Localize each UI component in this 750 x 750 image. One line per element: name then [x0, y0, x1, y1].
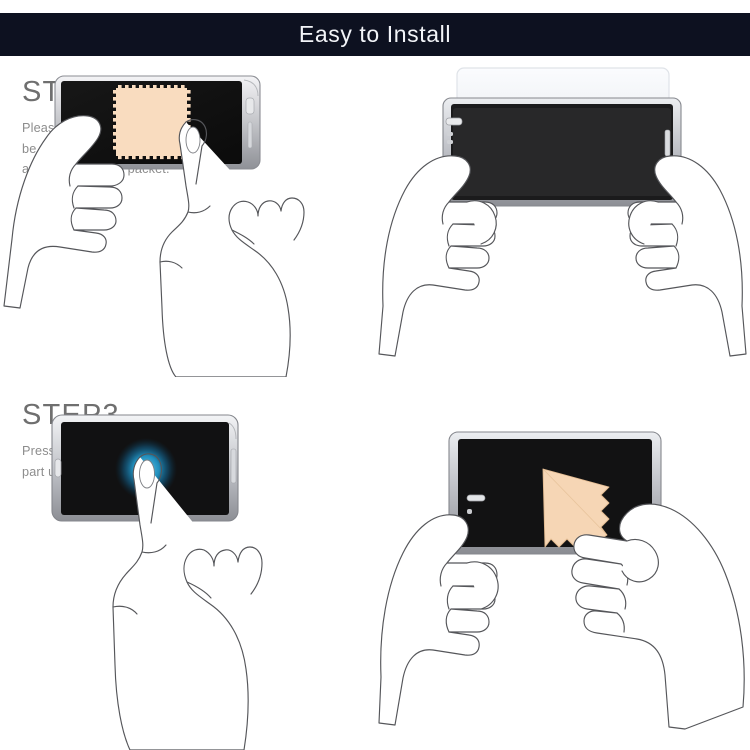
step-card-3: STEP3 Press the screen from the middle p… — [0, 377, 375, 750]
steps-grid: STEP1 Please clean the smartphone screen… — [0, 56, 750, 750]
right-wiping-hand — [572, 504, 744, 729]
phone-landscape — [449, 432, 661, 554]
step-card-2: STEP2 Peel off the plastic film and past… — [375, 56, 750, 377]
step-1-heading: STEP1 — [22, 76, 248, 109]
tempered-glass-sheet — [457, 68, 669, 108]
top-white-margin — [0, 0, 750, 13]
step-3-heading: STEP3 — [22, 399, 213, 432]
pointing-hand — [113, 454, 262, 750]
step-1-text-block: STEP1 Please clean the smartphone screen… — [22, 76, 248, 180]
step-1-description: Please clean the smartphone screen to be… — [22, 118, 248, 180]
header-bar: Easy to Install — [0, 13, 750, 56]
step-3-description: Press the screen from the middle part un… — [22, 441, 213, 482]
step-card-1: STEP1 Please clean the smartphone screen… — [0, 56, 375, 377]
left-hand — [379, 156, 497, 356]
left-hand — [379, 515, 498, 725]
page-title: Easy to Install — [299, 21, 451, 48]
right-hand — [628, 156, 746, 356]
phone-landscape — [443, 98, 681, 206]
step-3-text-block: STEP3 Press the screen from the middle p… — [22, 399, 213, 482]
step-2-illustration — [375, 56, 750, 377]
wiping-cloth — [543, 469, 609, 547]
step-card-4: STEP4 Squeeze out the rest of bubbles by… — [375, 377, 750, 750]
step-4-illustration — [375, 377, 750, 750]
